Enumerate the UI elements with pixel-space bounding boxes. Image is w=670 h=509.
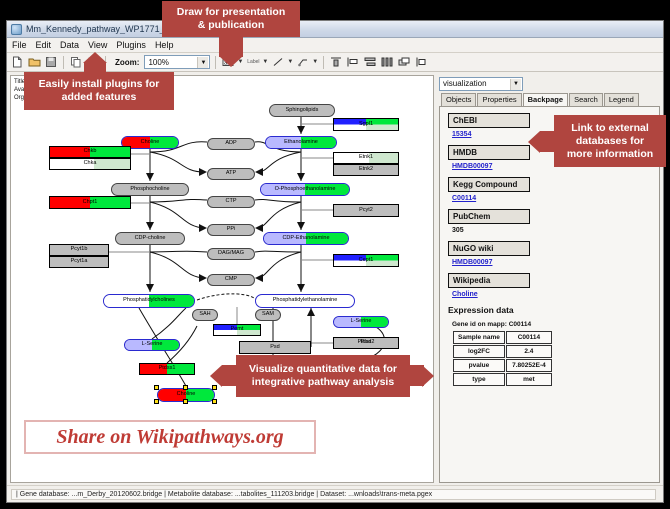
pathway-node-metabolite[interactable]: CTP	[207, 196, 255, 208]
menu-item-plugins[interactable]: Plugins	[116, 40, 146, 50]
title-bar: Mm_Kennedy_pathway_WP1771_45176.gpml	[7, 21, 663, 38]
pathway-node-gene[interactable]: Sgpl1	[333, 118, 399, 131]
pathway-node-gene[interactable]: Etnk1	[333, 152, 399, 164]
pathway-node-metabolite[interactable]: CDP-choline	[115, 232, 185, 245]
group-icon[interactable]	[414, 55, 428, 69]
screenshot-root: Mm_Kennedy_pathway_WP1771_45176.gpml Fil…	[0, 0, 670, 509]
callout-draw-line1: Draw for presentation	[177, 6, 286, 19]
chevron-down-icon[interactable]: ▼	[312, 59, 318, 65]
pathway-node-label: CDP-Ethanolamine	[282, 236, 329, 242]
pathway-node-metabolite[interactable]: Phosphocholine	[111, 183, 189, 196]
callout-draw-stem	[219, 37, 243, 57]
pathway-node-gene[interactable]: Pemt	[213, 324, 261, 336]
pathway-node-label: L-Serine	[142, 342, 163, 348]
visualization-value: visualization	[443, 79, 487, 88]
pathway-node-label: Cept1	[359, 258, 374, 264]
status-bar: | Gene database: ...m_Derby_20120602.bri…	[7, 485, 663, 502]
callout-link-line3: more information	[567, 148, 653, 161]
pathway-node-label: Sgpl1	[359, 122, 373, 128]
pathway-node-gene[interactable]: Pcyt1b	[49, 244, 109, 256]
db-header-pubchem: PubChem	[448, 209, 530, 224]
row-label-sample-name: Sample name	[453, 331, 505, 344]
pathway-node-metabolite[interactable]: L-Serine	[333, 316, 389, 328]
pathway-node-label: Chpt1	[83, 200, 98, 206]
pathway-node-gene[interactable]: Ptdss1	[139, 363, 195, 375]
db-link-kegg[interactable]: C00114	[452, 195, 659, 202]
table-row: type met	[453, 373, 552, 386]
pathway-node-label: CMP	[225, 277, 237, 283]
row-value-type: met	[506, 373, 552, 386]
pathway-node-label: Ptdss1	[159, 366, 176, 372]
pathway-node-label: Chkb	[84, 149, 97, 155]
db-link-nugo[interactable]: HMDB00097	[452, 259, 659, 266]
callout-visualize-line1: Visualize quantitative data for	[249, 363, 397, 376]
distribute-icon[interactable]	[363, 55, 377, 69]
callout-draw-line2: & publication	[198, 19, 265, 32]
pathway-node-metabolite[interactable]: L-Serine	[124, 339, 180, 351]
pathway-node-metabolite[interactable]: CDP-Ethanolamine	[263, 232, 349, 245]
pathway-node-metabolite[interactable]: Phosphatidylethanolamine	[255, 294, 355, 308]
callout-plugins-line2: added features	[62, 91, 137, 104]
graphical-line-tool-icon[interactable]	[296, 55, 310, 69]
pathway-node-gene[interactable]: Etnk2	[333, 164, 399, 176]
save-icon[interactable]	[44, 55, 58, 69]
pathway-node-label: Ptdss2	[358, 340, 375, 346]
pathway-node-metabolite[interactable]: CMP	[207, 274, 255, 286]
pathway-node-label: Ethanolamine	[284, 140, 318, 146]
application-icon	[11, 24, 22, 35]
callout-draw: Draw for presentation & publication	[162, 1, 300, 37]
callout-plugins-arrow	[83, 52, 107, 63]
pathway-node-label: SAM	[262, 312, 274, 318]
visualization-row: visualization ▼	[437, 75, 660, 92]
zoom-value: 100%	[148, 58, 168, 67]
pathway-node-label: Phosphocholine	[130, 187, 169, 193]
callout-visualize-line2: integrative pathway analysis	[252, 376, 394, 389]
pathway-node-label: Psd	[270, 345, 279, 351]
pathway-node-metabolite[interactable]: ATP	[207, 168, 255, 180]
row-value-pvalue: 7.80252E-4	[506, 359, 552, 372]
pathway-node-label: CDP-choline	[135, 236, 166, 242]
db-link-wikipedia[interactable]: Choline	[452, 291, 659, 298]
pathway-node-label: O-Phosphoethanolamine	[275, 187, 336, 193]
chevron-down-icon[interactable]: ▼	[510, 79, 521, 90]
toolbar-separator	[63, 56, 64, 69]
callout-link-line2: databases for	[576, 135, 644, 148]
pathway-node-metabolite[interactable]: DAG/MAG	[207, 248, 255, 260]
callout-plugins-line1: Easily install plugins for	[39, 78, 160, 91]
pathway-node-label: ADP	[225, 141, 236, 147]
pathway-node-label: Choline	[141, 140, 160, 146]
side-tabstrip: Objects Properties Backpage Search Legen…	[437, 92, 660, 106]
copy-icon[interactable]	[69, 55, 83, 69]
pathway-node-label: ATP	[226, 171, 236, 177]
share-banner: Share on Wikipathways.org	[24, 420, 316, 454]
pathway-node-label: Pcyt1b	[71, 247, 88, 253]
zoom-combobox[interactable]: 100% ▼	[144, 55, 210, 69]
db-header-kegg: Kegg Compound	[448, 177, 530, 192]
menu-bar: File Edit Data View Plugins Help	[7, 38, 663, 53]
tab-search[interactable]: Search	[569, 93, 603, 106]
pathway-node-label: Chka	[84, 161, 97, 167]
selection-handle[interactable]	[212, 399, 217, 404]
pathway-node-gene[interactable]: Chkb	[49, 146, 131, 158]
selection-handle[interactable]	[183, 385, 188, 390]
pathway-node-label: Pcyt2	[359, 208, 373, 214]
callout-visualize-arrow-right	[422, 365, 434, 387]
menu-item-data[interactable]: Data	[60, 40, 79, 50]
menu-item-edit[interactable]: Edit	[36, 40, 52, 50]
pathway-node-label: Etnk2	[359, 167, 373, 173]
row-label-pvalue: pvalue	[453, 359, 505, 372]
align-top-icon[interactable]	[329, 55, 343, 69]
chevron-down-icon[interactable]: ▼	[197, 57, 208, 68]
callout-plugins: Easily install plugins for added feature…	[24, 72, 174, 110]
callout-draw-arrow	[219, 56, 243, 67]
pathway-node-metabolite[interactable]: Ethanolamine	[265, 136, 337, 149]
label-tool-icon[interactable]: Label	[246, 55, 260, 69]
db-value-pubchem: 305	[452, 227, 659, 234]
pathway-node-metabolite[interactable]: ADP	[207, 138, 255, 150]
table-row: log2FC 2.4	[453, 345, 552, 358]
pathway-node-label: Etnk1	[359, 155, 373, 161]
new-file-icon[interactable]	[10, 55, 24, 69]
pathway-node-metabolite[interactable]: Sphingolipids	[269, 104, 335, 117]
callout-link-arrow	[528, 131, 540, 153]
callout-visualize: Visualize quantitative data for integrat…	[236, 355, 410, 397]
chevron-down-icon[interactable]: ▼	[262, 59, 268, 65]
pathway-node-gene[interactable]: Chpt1	[49, 196, 131, 209]
menu-item-view[interactable]: View	[88, 40, 107, 50]
toolbar-separator	[323, 56, 324, 69]
row-value-sample-name: C00114	[506, 331, 552, 344]
order-front-icon[interactable]	[397, 55, 411, 69]
db-header-hmdb: HMDB	[448, 145, 530, 160]
tab-properties[interactable]: Properties	[477, 93, 521, 106]
row-label-type: type	[453, 373, 505, 386]
pathway-node-gene[interactable]: Pcyt1a	[49, 256, 109, 268]
pathway-node-label: DAG/MAG	[218, 251, 244, 257]
selection-handle[interactable]	[183, 399, 188, 404]
pathway-node-metabolite[interactable]: Phosphatidylcholines	[103, 294, 195, 308]
pathway-node-gene[interactable]: Ptdss2	[333, 337, 399, 349]
visualization-dropdown[interactable]: visualization ▼	[439, 77, 523, 91]
pathway-node-metabolite[interactable]: SAM	[255, 309, 281, 321]
row-value-log2fc: 2.4	[506, 345, 552, 358]
menu-item-help[interactable]: Help	[155, 40, 174, 50]
pathway-node-label: Phosphatidylcholines	[123, 298, 175, 304]
share-banner-text: Share on Wikipathways.org	[56, 426, 283, 449]
row-label-log2fc: log2FC	[453, 345, 505, 358]
tab-backpage[interactable]: Backpage	[523, 93, 568, 107]
tab-legend[interactable]: Legend	[604, 93, 639, 106]
toolbar-separator	[215, 56, 216, 69]
pathway-node-gene[interactable]: Psd	[239, 341, 311, 354]
callout-link-databases: Link to external databases for more info…	[554, 115, 666, 167]
chevron-down-icon[interactable]: ▼	[287, 59, 293, 65]
pathway-node-label: CTP	[226, 199, 237, 205]
pathway-node-label: Pcyt1a	[71, 259, 88, 265]
gene-id-line: Gene id on mapp: C00114	[452, 321, 659, 328]
pathway-node-metabolite[interactable]: SAH	[192, 309, 218, 321]
menu-item-file[interactable]: File	[12, 40, 27, 50]
pathway-node-label: PPi	[227, 227, 236, 233]
table-row: Sample name C00114	[453, 331, 552, 344]
callout-visualize-arrow-left	[210, 365, 222, 387]
zoom-label: Zoom:	[115, 58, 139, 67]
align-left-icon[interactable]	[346, 55, 360, 69]
pathway-node-metabolite[interactable]: O-Phosphoethanolamine	[260, 183, 350, 196]
pathway-node-label: Phosphatidylethanolamine	[273, 298, 338, 304]
stack-center-icon[interactable]	[380, 55, 394, 69]
expression-data-title: Expression data	[448, 305, 659, 315]
callout-link-line1: Link to external	[571, 122, 649, 135]
db-header-wikipedia: Wikipedia	[448, 273, 530, 288]
pathway-node-label: Sphingolipids	[286, 108, 319, 114]
pathway-node-gene[interactable]: Pcyt2	[333, 204, 399, 217]
open-folder-icon[interactable]	[27, 55, 41, 69]
selection-handle[interactable]	[154, 385, 159, 390]
pathway-node-label: Choline	[177, 392, 196, 398]
db-header-chebi: ChEBI	[448, 113, 530, 128]
tab-objects[interactable]: Objects	[441, 93, 476, 106]
pathway-node-metabolite[interactable]: PPi	[207, 224, 255, 236]
pathway-node-label: Pemt	[231, 327, 244, 333]
selection-handle[interactable]	[154, 399, 159, 404]
pathway-node-label: SAH	[199, 312, 210, 318]
line-tool-icon[interactable]	[271, 55, 285, 69]
status-text: | Gene database: ...m_Derby_20120602.bri…	[11, 489, 656, 500]
pathway-node-gene[interactable]: Cept1	[333, 254, 399, 267]
pathway-node-label: L-Serine	[351, 319, 372, 325]
expression-table: Sample name C00114 log2FC 2.4 pvalue 7.8…	[452, 330, 553, 387]
db-header-nugo: NuGO wiki	[448, 241, 530, 256]
pathway-node-gene[interactable]: Chka	[49, 158, 131, 170]
table-row: pvalue 7.80252E-4	[453, 359, 552, 372]
